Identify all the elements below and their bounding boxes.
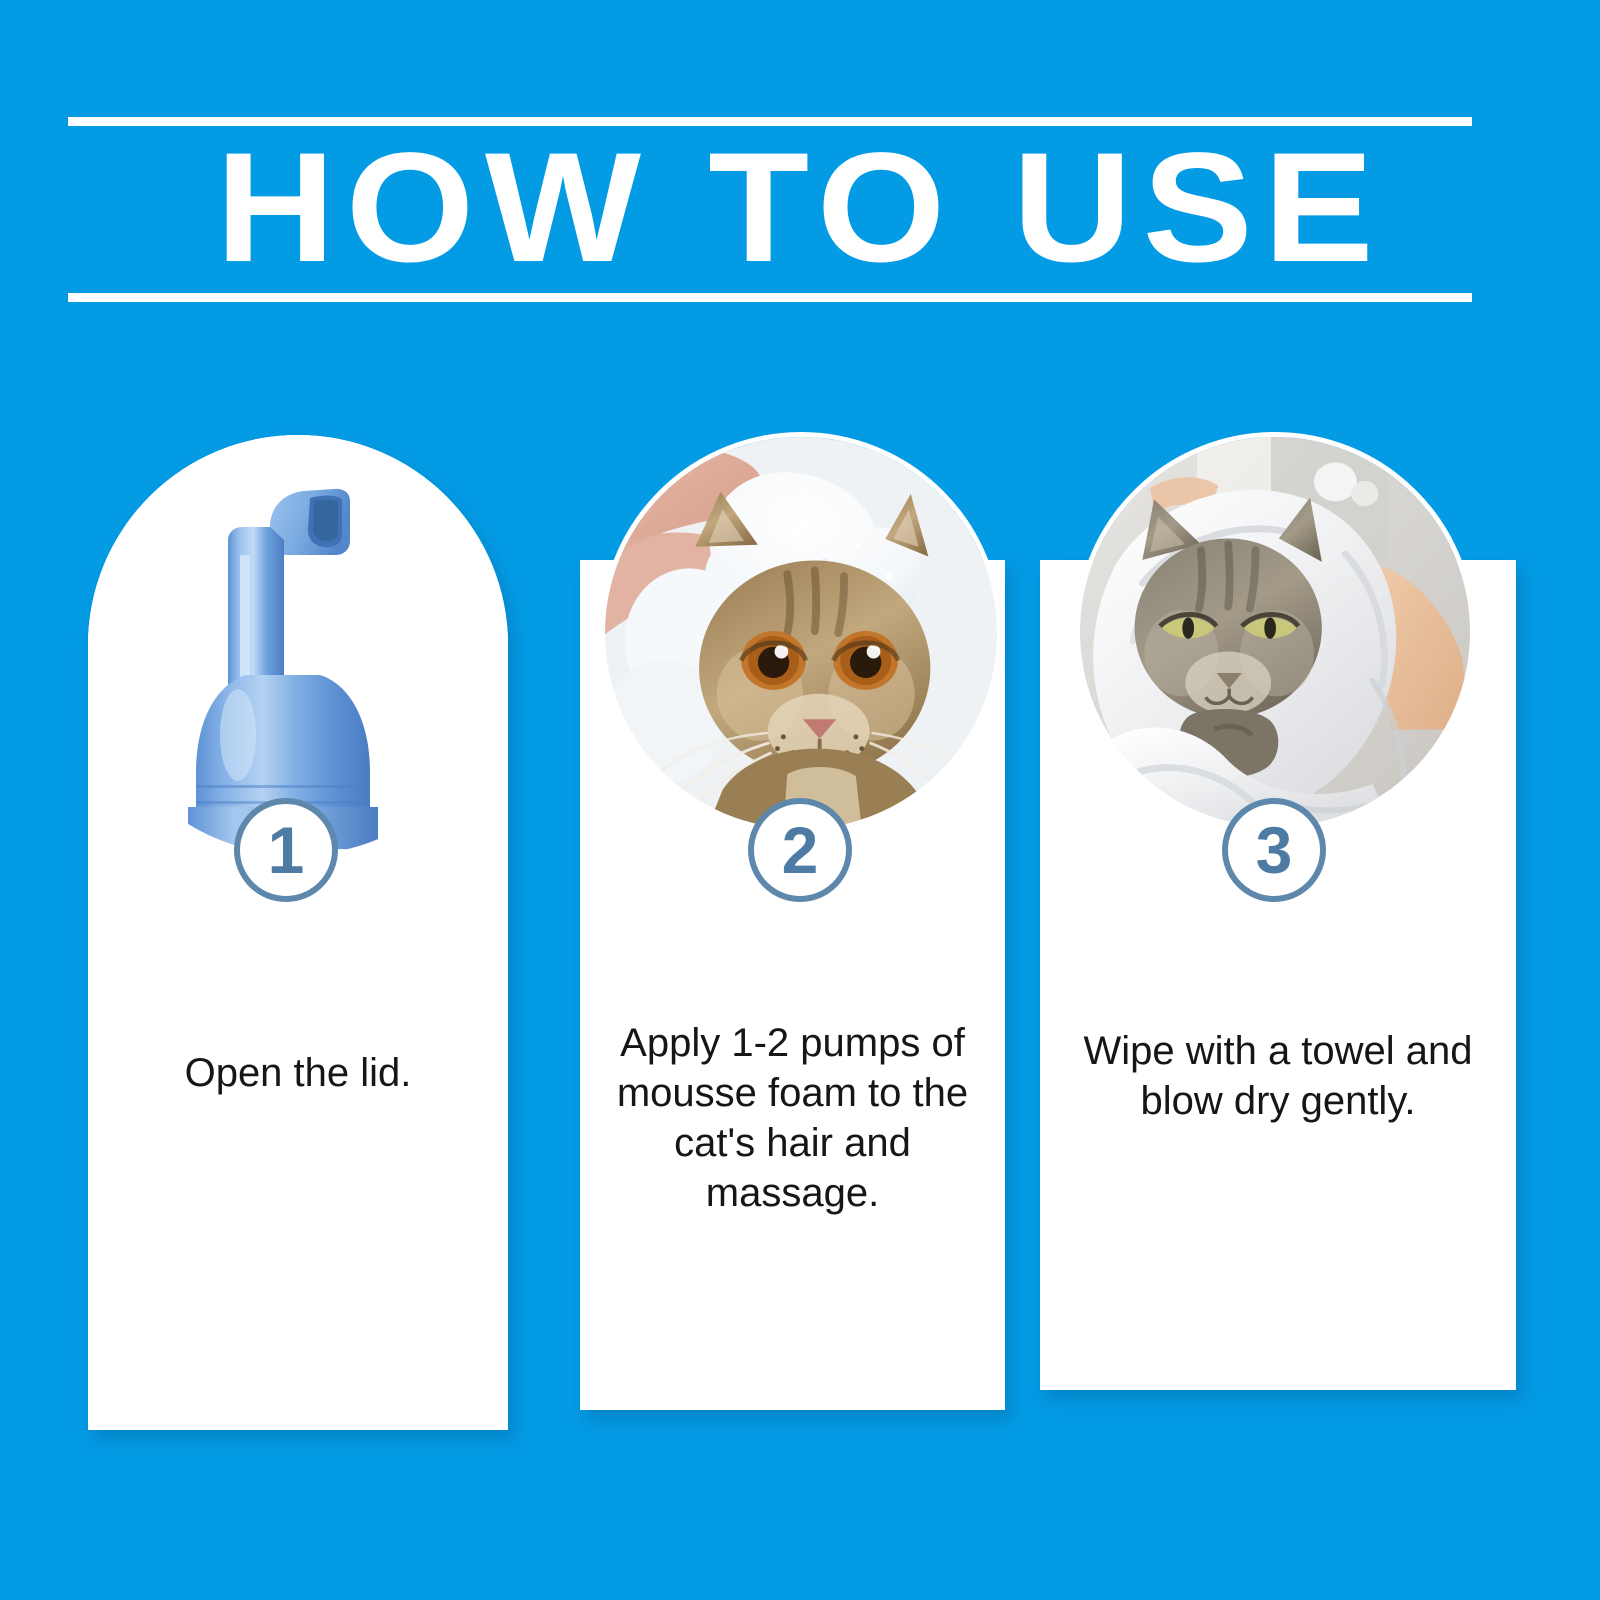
steps-container: 1 Open the lid. [0, 0, 1600, 1600]
step-3-image [1075, 432, 1475, 832]
step-3-caption: Wipe with a towel and blow dry gently. [1060, 1026, 1496, 1126]
step-2-number-badge: 2 [748, 798, 852, 902]
step-1-image [88, 435, 508, 855]
step-3-number-badge: 3 [1222, 798, 1326, 902]
step-1-caption: Open the lid. [98, 1048, 498, 1098]
step-2-caption: Apply 1-2 pumps of mousse foam to the ca… [590, 1018, 995, 1218]
step-1-number-badge: 1 [234, 798, 338, 902]
step-2-image [600, 432, 1002, 834]
